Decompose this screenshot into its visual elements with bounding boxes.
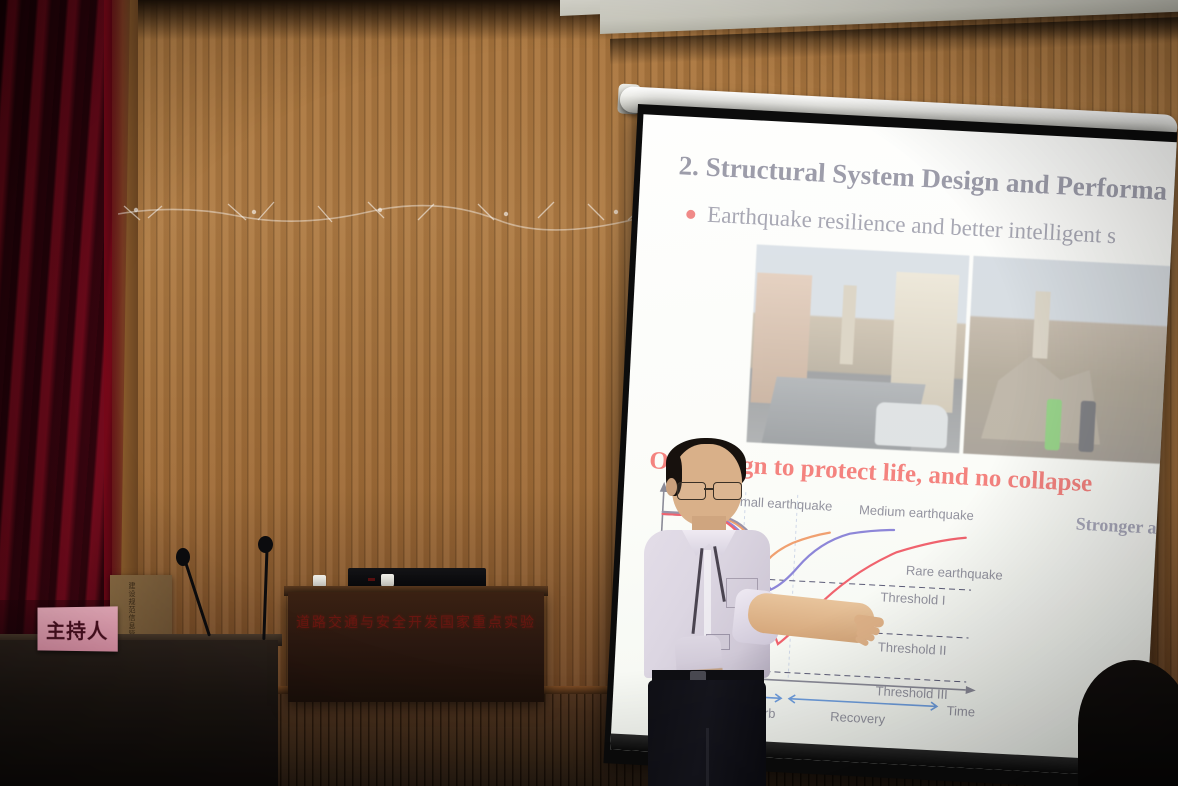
bullet-dot-icon — [686, 209, 695, 218]
stage-curtain — [0, 0, 122, 640]
glasses-lens-left — [677, 482, 706, 500]
glasses-icon — [677, 482, 743, 498]
glasses-lens-right — [713, 482, 742, 500]
slide-title: 2. Structural System Design and Performa — [678, 150, 1168, 207]
threshold-1-label: Threshold I — [880, 589, 946, 607]
microphone-1-head — [176, 548, 190, 566]
photo-clock-tower — [840, 285, 857, 365]
slide-bullet: Earthquake resilience and better intelli… — [686, 201, 1117, 249]
podium-lab-name: 道路交通与安全开发国家重点实验室 — [296, 612, 536, 632]
monitor-power-led — [368, 578, 375, 581]
presenter-pointing-hand — [854, 614, 888, 644]
photo-person-dark — [1078, 400, 1096, 452]
nameplate-text: 主持人 — [46, 614, 108, 644]
slide-bullet-text: Earthquake resilience and better intelli… — [707, 202, 1117, 249]
slide-photo-strip — [746, 244, 1176, 464]
photo-street-before — [746, 244, 969, 453]
x-axis-label-time: Time — [946, 703, 975, 719]
glasses-bridge — [704, 488, 713, 490]
head-table — [0, 640, 278, 786]
annotation-rare-earthquake: Rare earthquake — [906, 563, 1003, 583]
trouser-crease — [706, 728, 709, 786]
photo-person-green — [1044, 398, 1062, 450]
photo-parked-car — [874, 401, 949, 448]
threshold-3-label: Threshold III — [875, 683, 948, 702]
presenter-ear — [666, 478, 677, 496]
moderator-nameplate: 主持人 — [37, 606, 117, 651]
cardboard-carton — [110, 575, 172, 641]
audience-member-head — [1078, 660, 1178, 786]
speaker-podium — [288, 592, 544, 702]
photo-rubble-after — [963, 256, 1177, 465]
microphone-2-head — [258, 536, 273, 553]
photo-surviving-tower — [1032, 291, 1050, 359]
presentation-photo: 2. Structural System Design and Performa… — [0, 0, 1178, 786]
presenter — [630, 438, 880, 786]
